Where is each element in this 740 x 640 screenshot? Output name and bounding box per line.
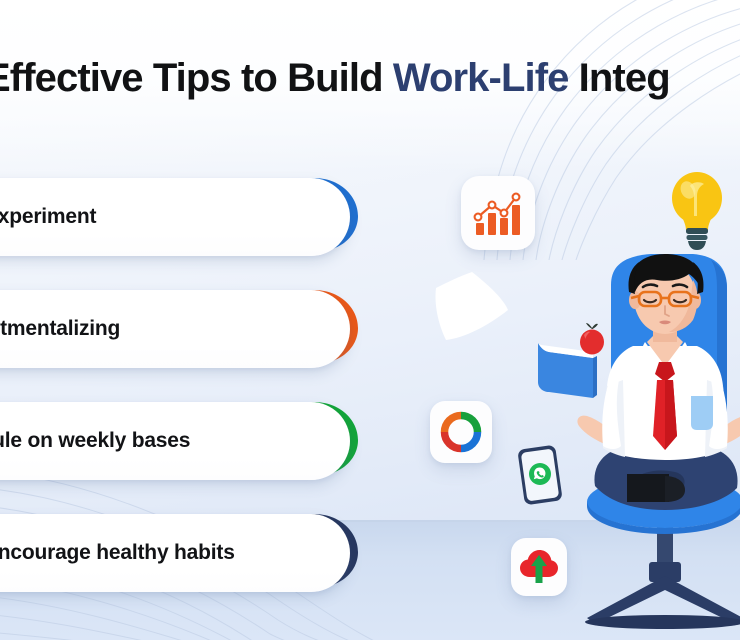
title-text-accent: Work-Life [393, 56, 569, 100]
list-item[interactable]: d encourage healthy habits [0, 514, 358, 592]
list-item-label: partmentalizing [0, 290, 350, 368]
meditating-businessman [565, 250, 740, 640]
tips-list: o experiment partmentalizing edule on we… [0, 0, 380, 640]
lightbulb-icon [666, 168, 728, 252]
list-item-label: edule on weekly bases [0, 402, 350, 480]
paper-sheet-icon [428, 268, 514, 344]
whatsapp-phone-icon[interactable] [514, 444, 566, 506]
list-item[interactable]: partmentalizing [0, 290, 358, 368]
list-item[interactable]: edule on weekly bases [0, 402, 358, 480]
list-item-label: o experiment [0, 178, 350, 256]
title-text-trail: Integ [568, 56, 669, 100]
list-item[interactable]: o experiment [0, 178, 358, 256]
donut-chart-icon[interactable] [430, 401, 492, 463]
banner-stage: Effective Tips to Build Work-Life Integ … [0, 0, 740, 640]
bar-chart-line-graph-icon[interactable] [461, 176, 535, 250]
list-item-label: d encourage healthy habits [0, 514, 350, 592]
cloud-upload-icon[interactable] [511, 538, 567, 596]
